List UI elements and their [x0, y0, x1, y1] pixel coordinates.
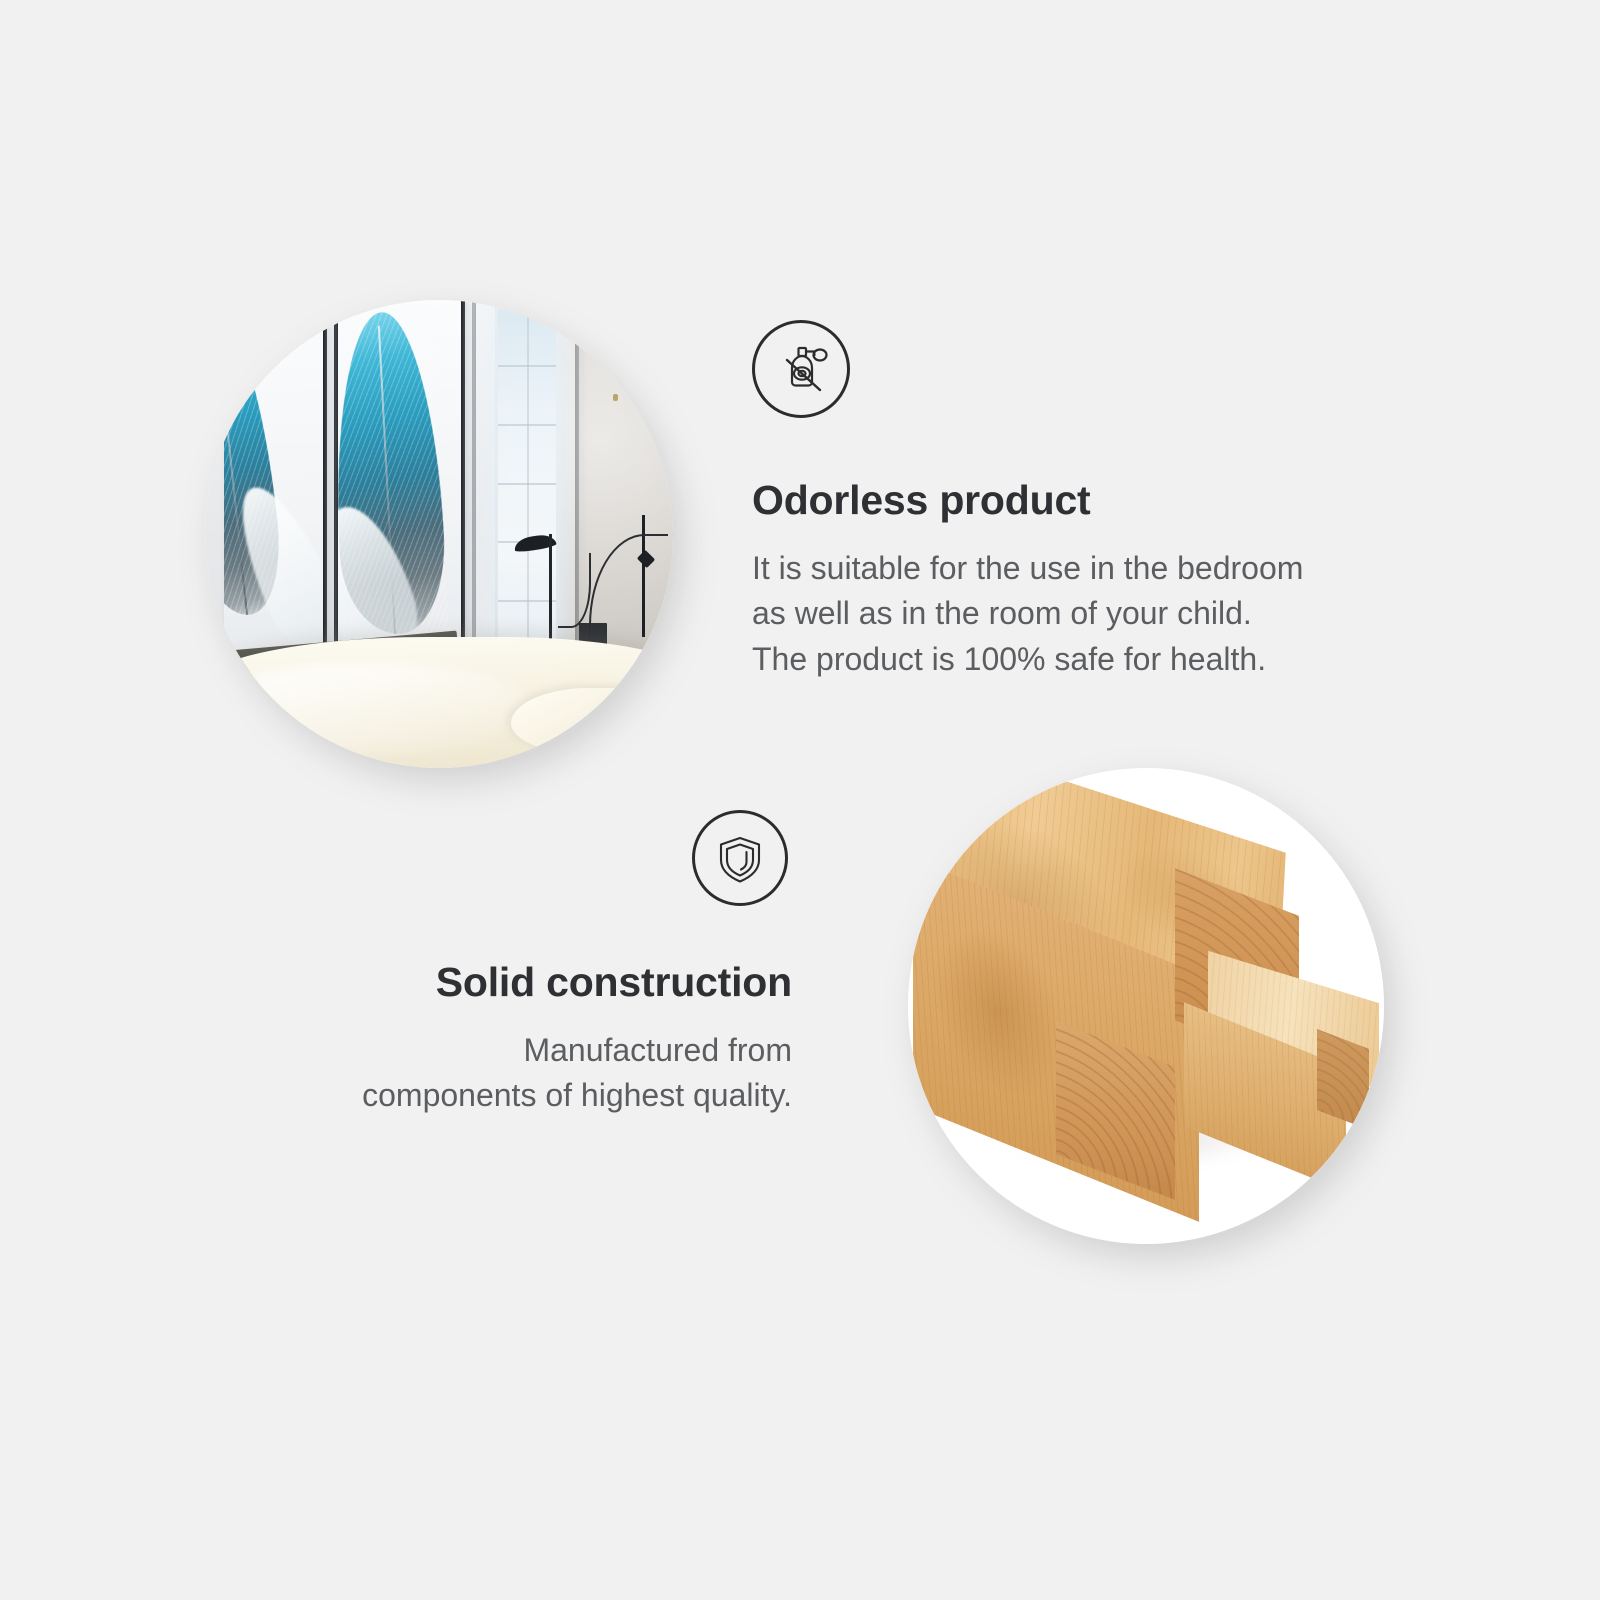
pillow [511, 688, 673, 755]
panel-edge [334, 300, 338, 693]
feature-description: It is suitable for the use in the bedroo… [752, 546, 1432, 682]
feature-text-odorless: Odorless product It is suitable for the … [752, 478, 1432, 682]
panel-edge [323, 300, 327, 693]
feature-text-solid-construction: Solid construction Manufactured from com… [220, 960, 792, 1119]
room-scene [205, 300, 673, 768]
description-line: It is suitable for the use in the bedroo… [752, 546, 1432, 591]
description-line: as well as in the room of your child. [752, 591, 1432, 636]
product-feature-page: Odorless product It is suitable for the … [0, 0, 1600, 1600]
bedroom-photo [205, 300, 673, 768]
shield-icon [692, 810, 788, 906]
bed-duvet [205, 637, 673, 768]
feature-description: Manufactured from components of highest … [220, 1028, 792, 1119]
description-line: components of highest quality. [220, 1073, 792, 1118]
canvas-panel-3 [472, 300, 580, 693]
panel-edge [472, 300, 476, 693]
description-line: Manufactured from [220, 1028, 792, 1073]
feature-title: Solid construction [220, 960, 792, 1006]
feature-image-wood-blocks [908, 768, 1384, 1244]
feature-image-bedroom [205, 300, 673, 768]
panel-edge [461, 300, 465, 693]
wood-photo [908, 768, 1384, 1244]
description-line: The product is 100% safe for health. [752, 637, 1432, 682]
no-odor-perfume-bottle-icon [752, 320, 850, 418]
canvas-panel-1 [224, 300, 327, 693]
feature-title: Odorless product [752, 478, 1432, 524]
